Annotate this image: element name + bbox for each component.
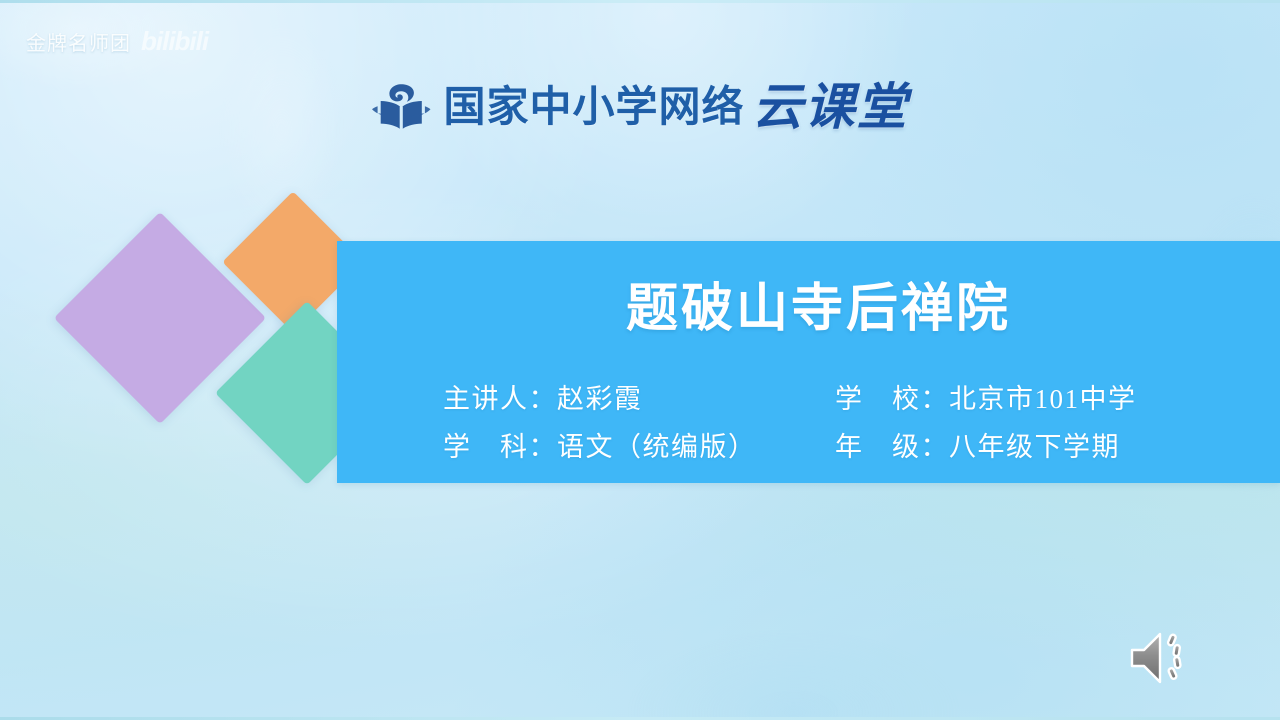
meta-row: 学 科：语文（统编版） 年 级：八年级下学期 xyxy=(443,423,1173,471)
background-top-edge xyxy=(0,0,1280,3)
speaker-sound-icon[interactable] xyxy=(1124,625,1196,691)
lesson-title: 题破山寺后禅院 xyxy=(357,283,1280,335)
lesson-meta: 主讲人：赵彩霞 学 校：北京市101中学 学 科：语文（统编版） 年 级：八年级… xyxy=(443,375,1173,471)
meta-subject: 学 科：语文（统编版） xyxy=(443,423,835,471)
brand-lockup: 国家中小学网络 云课堂 xyxy=(0,78,1280,136)
brand-name-text: 国家中小学网络 xyxy=(443,86,744,128)
presentation-slide: 金牌名师团 bilibili 国家中小学网络 云课堂 题破山寺后禅院 主讲人：赵… xyxy=(0,0,1280,720)
meta-row: 主讲人：赵彩霞 学 校：北京市101中学 xyxy=(443,375,1173,423)
title-banner: 题破山寺后禅院 主讲人：赵彩霞 学 校：北京市101中学 学 科：语文（统编版）… xyxy=(337,241,1280,483)
brand-stylized-text: 云课堂 xyxy=(753,82,909,132)
meta-school: 学 校：北京市101中学 xyxy=(835,375,1173,423)
open-book-wave-icon xyxy=(371,78,431,136)
meta-grade: 年 级：八年级下学期 xyxy=(835,423,1173,471)
meta-speaker: 主讲人：赵彩霞 xyxy=(443,375,835,423)
